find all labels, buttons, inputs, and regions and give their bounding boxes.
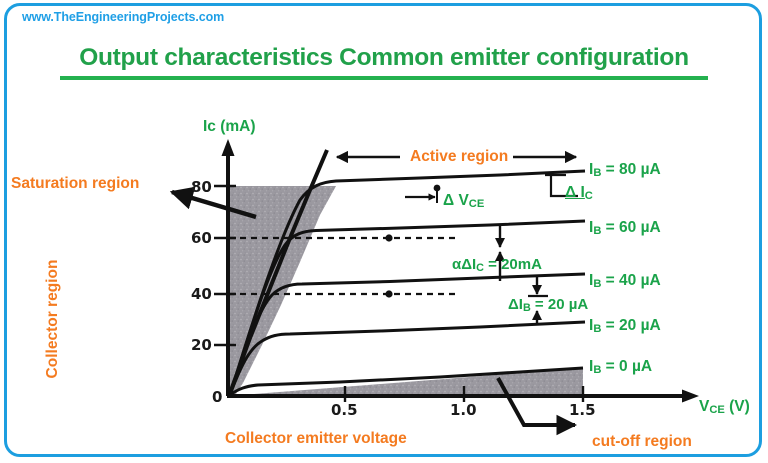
page-title-container: Output characteristics Common emitter co… xyxy=(0,44,768,72)
x-axis-title-text: VCE (V) xyxy=(699,398,750,415)
delta-ib-value: = 20 µA xyxy=(531,296,588,313)
curve-label-ib-80: IB = 80 µA xyxy=(589,161,661,179)
y-tick-label-60: 60 xyxy=(191,229,212,247)
alpha-delta-ic-value: = 20mA xyxy=(484,256,542,273)
page-title: Output characteristics Common emitter co… xyxy=(79,44,689,72)
delta-vce-main: Δ V xyxy=(443,192,469,209)
delta-ib-subscript: B xyxy=(523,302,531,314)
alpha-delta-ic-main: αΔI xyxy=(452,256,476,273)
curve-label-ib-0: IB = 0 µA xyxy=(589,358,652,376)
curve-label-ib-20: IB = 20 µA xyxy=(589,317,661,335)
x-tick-label-15: 1.5 xyxy=(569,401,596,419)
curve-label-ib-80-value: = 80 µA xyxy=(601,161,660,178)
curve-label-ib-40: IB = 40 µA xyxy=(589,272,661,290)
y-axis-title-text: Ic (mA) xyxy=(203,118,256,135)
delta-ic-main: Δ I xyxy=(565,184,585,201)
y-axis-title: Ic (mA) xyxy=(203,118,256,136)
x-axis-title: VCE (V) xyxy=(699,398,750,416)
delta-vce-label: Δ VCE xyxy=(443,192,484,210)
delta-ic-label: Δ IC xyxy=(565,184,593,202)
screenshot-root: www.TheEngineeringProjects.com Output ch… xyxy=(0,0,768,463)
curve-label-ib-20-value: = 20 µA xyxy=(601,317,660,334)
cutoff-region-label: cut-off region xyxy=(592,433,692,451)
y-tick-label-40: 40 xyxy=(191,285,212,303)
curve-label-ib-60-value: = 60 µA xyxy=(601,219,660,236)
site-url-text: www.TheEngineeringProjects.com xyxy=(22,10,224,24)
y-tick-label-80: 80 xyxy=(191,178,212,196)
delta-ib-label: ΔIB = 20 µA xyxy=(508,296,588,314)
x-tick-label-10: 1.0 xyxy=(450,401,477,419)
collector-region-label: Collector region xyxy=(44,239,62,399)
curve-label-ib-40-value: = 40 µA xyxy=(601,272,660,289)
y-tick-label-0: 0 xyxy=(212,388,222,406)
active-region-label: Active region xyxy=(410,148,508,166)
title-underline-rule xyxy=(60,76,708,80)
curve-label-ib-0-value: = 0 µA xyxy=(601,358,652,375)
alpha-delta-ic-label: αΔIC = 20mA xyxy=(452,256,542,274)
x-tick-label-05: 0.5 xyxy=(331,401,358,419)
alpha-delta-ic-subscript: C xyxy=(476,262,484,274)
saturation-region-label: Saturation region xyxy=(11,175,139,193)
delta-vce-subscript: CE xyxy=(469,198,485,210)
delta-ib-main: ΔI xyxy=(508,296,523,313)
collector-emitter-voltage-label: Collector emitter voltage xyxy=(225,430,407,448)
y-tick-label-20: 20 xyxy=(191,336,212,354)
curve-label-ib-60: IB = 60 µA xyxy=(589,219,661,237)
delta-ic-subscript: C xyxy=(585,190,593,202)
